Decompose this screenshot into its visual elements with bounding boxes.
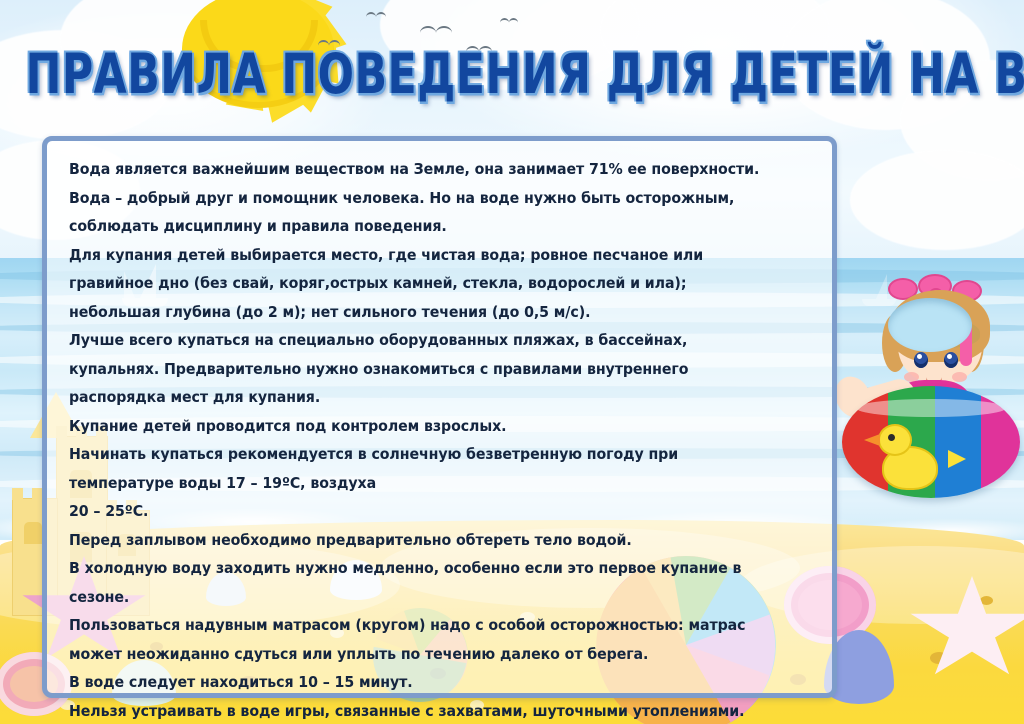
rule-paragraph: Нельзя устраивать в воде игры, связанные… [69,697,766,724]
poster-root: ПРАВИЛА ПОВЕДЕНИЯ ДЛЯ ДЕТЕЙ НА ВОДЕ Вода… [0,0,1024,724]
rule-paragraph: Для купания детей выбирается место, где … [69,241,766,327]
rule-paragraph: Лучше всего купаться на специально обору… [69,326,766,412]
girl-swim-ring-icon [840,268,1024,530]
rule-paragraph: Вода является важнейшим веществом на Зем… [69,155,766,241]
swim-ring-hole [888,298,972,352]
girl-eye [944,352,958,368]
rule-paragraph: Купание детей проводится под контролем в… [69,412,766,441]
rubber-duck-icon [882,446,954,502]
rule-paragraph: Пользоваться надувным матрасом (кругом) … [69,611,766,668]
page-title: ПРАВИЛА ПОВЕДЕНИЯ ДЛЯ ДЕТЕЙ НА ВОДЕ [26,42,999,107]
rule-paragraph: Перед заплывом необходимо предварительно… [69,526,766,555]
rules-panel: Вода является важнейшим веществом на Зем… [42,136,837,698]
girl-eye [914,352,928,368]
rule-paragraph: Начинать купаться рекомендуется в солнеч… [69,440,766,497]
rule-paragraph: 20 – 25ºС. [69,497,766,526]
girl-cheek [952,372,967,382]
rule-paragraph: В воде следует находиться 10 – 15 минут. [69,668,766,697]
rule-paragraph: В холодную воду заходить нужно медленно,… [69,554,766,611]
